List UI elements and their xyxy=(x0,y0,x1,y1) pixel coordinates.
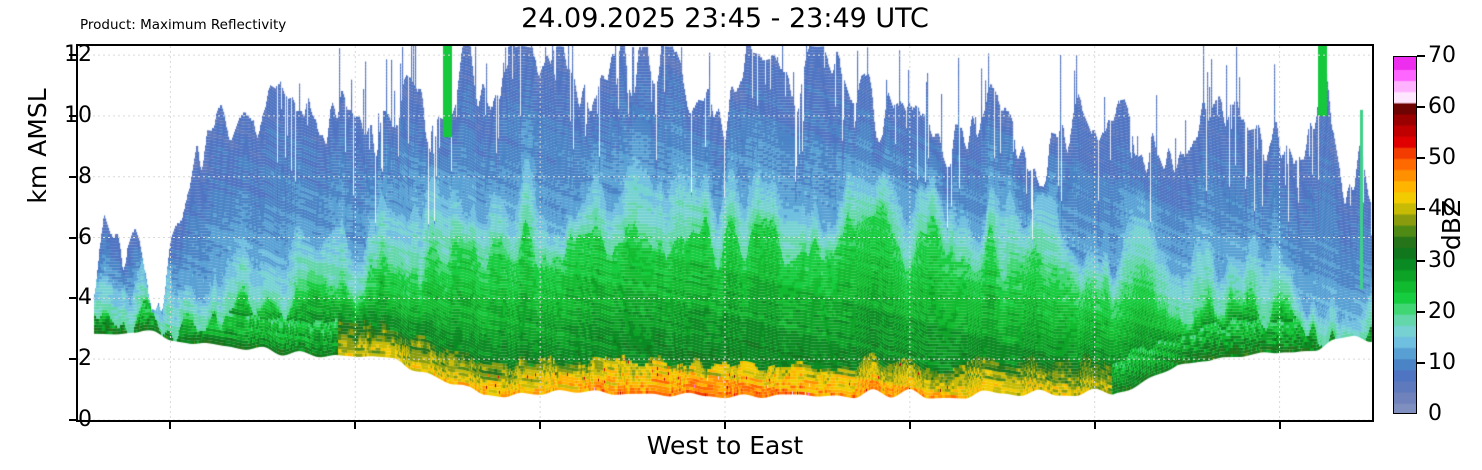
colorbar-tick-mark xyxy=(1417,362,1425,364)
y-tick-label: 0 xyxy=(78,409,92,431)
y-tick-label: 2 xyxy=(78,348,92,370)
colorbar-tick-label: 0 xyxy=(1428,403,1442,425)
colorbar-canvas xyxy=(1394,57,1416,413)
colorbar-tick-label: 60 xyxy=(1428,96,1456,118)
colorbar-tick-label: 30 xyxy=(1428,250,1456,272)
colorbar-tick-label: 40 xyxy=(1428,198,1456,220)
colorbar-tick-label: 50 xyxy=(1428,147,1456,169)
colorbar-tick-mark xyxy=(1417,157,1425,159)
x-tick-mark xyxy=(354,422,356,429)
product-label: Product: Maximum Reflectivity xyxy=(80,18,286,33)
colorbar-tick-label: 10 xyxy=(1428,352,1456,374)
colorbar-tick-mark xyxy=(1417,55,1425,57)
colorbar-tick-mark xyxy=(1417,311,1425,313)
y-tick-mark xyxy=(69,358,76,360)
y-tick-label: 8 xyxy=(78,166,92,188)
colorbar-tick-label: 20 xyxy=(1428,301,1456,323)
x-tick-mark xyxy=(909,422,911,429)
x-tick-mark xyxy=(539,422,541,429)
x-tick-mark xyxy=(169,422,171,429)
colorbar-tick-mark xyxy=(1417,208,1425,210)
y-tick-mark xyxy=(69,237,76,239)
colorbar-tick-mark xyxy=(1417,106,1425,108)
y-axis-label: km AMSL xyxy=(25,46,51,246)
colorbar-tick-mark xyxy=(1417,260,1425,262)
colorbar[interactable] xyxy=(1393,56,1417,414)
x-axis-label: West to East xyxy=(76,432,1374,460)
colorbar-tick-label: 70 xyxy=(1428,45,1456,67)
y-tick-label: 4 xyxy=(78,287,92,309)
y-tick-mark xyxy=(69,419,76,421)
y-tick-mark xyxy=(69,54,76,56)
radar-cross-section-figure: 24.09.2025 23:45 - 23:49 UTC Product: Ma… xyxy=(0,0,1482,470)
x-tick-mark xyxy=(1279,422,1281,429)
y-tick-mark xyxy=(69,115,76,117)
plot-area[interactable] xyxy=(76,44,1374,422)
x-tick-mark xyxy=(1094,422,1096,429)
y-tick-label: 6 xyxy=(78,227,92,249)
x-tick-mark xyxy=(724,422,726,429)
y-tick-mark xyxy=(69,176,76,178)
y-tick-mark xyxy=(69,297,76,299)
radar-reflectivity-canvas xyxy=(78,46,1372,420)
